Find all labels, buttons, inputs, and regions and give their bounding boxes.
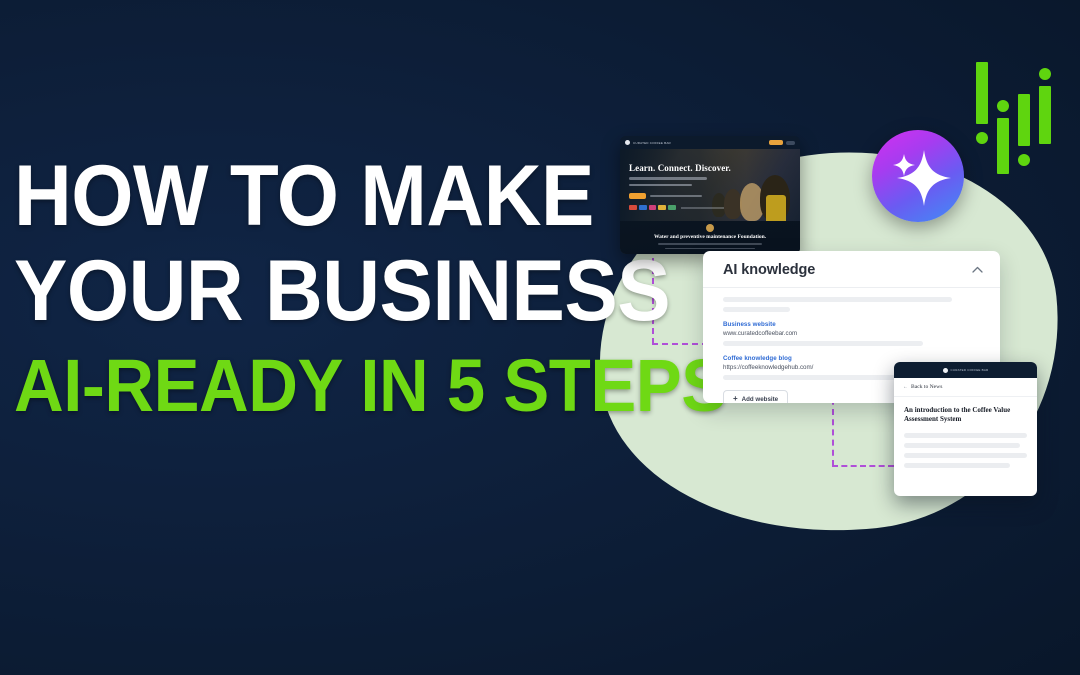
glyph-bar bbox=[1018, 94, 1030, 146]
news-mockup-topbar: CURATED COFFEE BAR bbox=[894, 362, 1037, 378]
ai-knowledge-title: AI knowledge bbox=[723, 262, 815, 278]
website-brand-name: CURATED COFFEE BAR bbox=[633, 141, 671, 145]
website-hero-text-placeholder bbox=[629, 177, 707, 180]
ai-knowledge-header[interactable]: AI knowledge bbox=[703, 251, 1000, 288]
website-hero-text-placeholder bbox=[629, 184, 692, 187]
dashed-connector-horizontal-right bbox=[832, 465, 894, 467]
brand-logo-icon bbox=[625, 140, 630, 145]
brand-row-text-placeholder bbox=[681, 207, 724, 209]
website-lower-heading: Water and preventive maintenance Foundat… bbox=[620, 234, 800, 241]
brand-logo-chip bbox=[639, 205, 647, 210]
back-to-news-link[interactable]: ← Back to News bbox=[894, 378, 1037, 397]
website-mockup-card: CURATED COFFEE BAR Learn. Connect. Disco… bbox=[620, 136, 800, 254]
website-lower-section: Water and preventive maintenance Foundat… bbox=[620, 221, 800, 254]
website-section-badge-icon bbox=[706, 224, 714, 232]
plus-icon: + bbox=[733, 395, 738, 403]
knowledge-source-url: www.curatedcoffeebar.com bbox=[723, 330, 980, 337]
headline-line-1: HOW TO MAKE bbox=[14, 158, 665, 235]
website-hero-content: Learn. Connect. Discover. bbox=[629, 163, 724, 210]
ai-sparkle-icon bbox=[872, 130, 964, 222]
glyph-dot bbox=[997, 100, 1009, 112]
thumbnail-canvas: HOW TO MAKE YOUR BUSINESS AI-READY IN 5 … bbox=[0, 0, 1080, 675]
text-placeholder bbox=[904, 453, 1027, 458]
knowledge-source-label: Business website bbox=[723, 321, 980, 328]
website-nav-secondary bbox=[786, 141, 795, 145]
glyph-bar bbox=[997, 118, 1009, 174]
glyph-dot bbox=[1039, 68, 1051, 80]
headline-block: HOW TO MAKE YOUR BUSINESS AI-READY IN 5 … bbox=[14, 158, 714, 419]
knowledge-source-row[interactable]: Business website www.curatedcoffeebar.co… bbox=[723, 321, 980, 337]
glyph-bar bbox=[976, 62, 988, 124]
glyph-bar bbox=[1039, 86, 1051, 144]
hero-person-vest bbox=[766, 195, 786, 221]
website-hero-cta-button bbox=[629, 193, 646, 199]
website-hero-cta-text-placeholder bbox=[650, 195, 702, 198]
news-article-body-placeholder bbox=[894, 424, 1037, 468]
news-article-title: An introduction to the Coffee Value Asse… bbox=[894, 397, 1037, 424]
text-placeholder bbox=[723, 297, 952, 302]
glyph-dot bbox=[1018, 154, 1030, 166]
brand-logo-chip bbox=[658, 205, 666, 210]
arrow-left-icon: ← bbox=[903, 385, 908, 390]
text-placeholder bbox=[723, 307, 790, 312]
website-lower-text-placeholder bbox=[665, 248, 755, 250]
website-brand-logos-row bbox=[629, 205, 724, 210]
headline-line-2: YOUR BUSINESS bbox=[14, 253, 665, 330]
website-lower-text-placeholder bbox=[658, 243, 762, 245]
add-website-label: Add website bbox=[742, 396, 778, 403]
chevron-up-icon[interactable] bbox=[972, 265, 983, 276]
website-hero: Learn. Connect. Discover. bbox=[620, 149, 800, 221]
website-mockup-topbar: CURATED COFFEE BAR bbox=[620, 136, 800, 149]
knowledge-source-label: Coffee knowledge blog bbox=[723, 355, 980, 362]
brand-logo-chip bbox=[629, 205, 637, 210]
website-hero-cta-row bbox=[629, 193, 724, 199]
brand-logo-chip bbox=[668, 205, 676, 210]
brand-logo-icon bbox=[943, 368, 948, 373]
news-article-mockup-card: CURATED COFFEE BAR ← Back to News An int… bbox=[894, 362, 1037, 496]
text-placeholder bbox=[904, 463, 1010, 468]
green-bars-icon bbox=[968, 62, 1064, 174]
add-website-button[interactable]: + Add website bbox=[723, 390, 788, 403]
news-brand-name: CURATED COFFEE BAR bbox=[951, 368, 989, 372]
website-nav-cta bbox=[769, 140, 783, 145]
brand-logo-chip bbox=[649, 205, 657, 210]
back-to-news-label: Back to News bbox=[911, 384, 942, 390]
glyph-dot bbox=[976, 132, 988, 144]
website-hero-heading: Learn. Connect. Discover. bbox=[629, 163, 724, 173]
text-placeholder bbox=[904, 443, 1020, 448]
text-placeholder bbox=[723, 341, 923, 346]
text-placeholder bbox=[904, 433, 1027, 438]
headline-line-3: AI-READY IN 5 STEPS bbox=[14, 353, 665, 420]
